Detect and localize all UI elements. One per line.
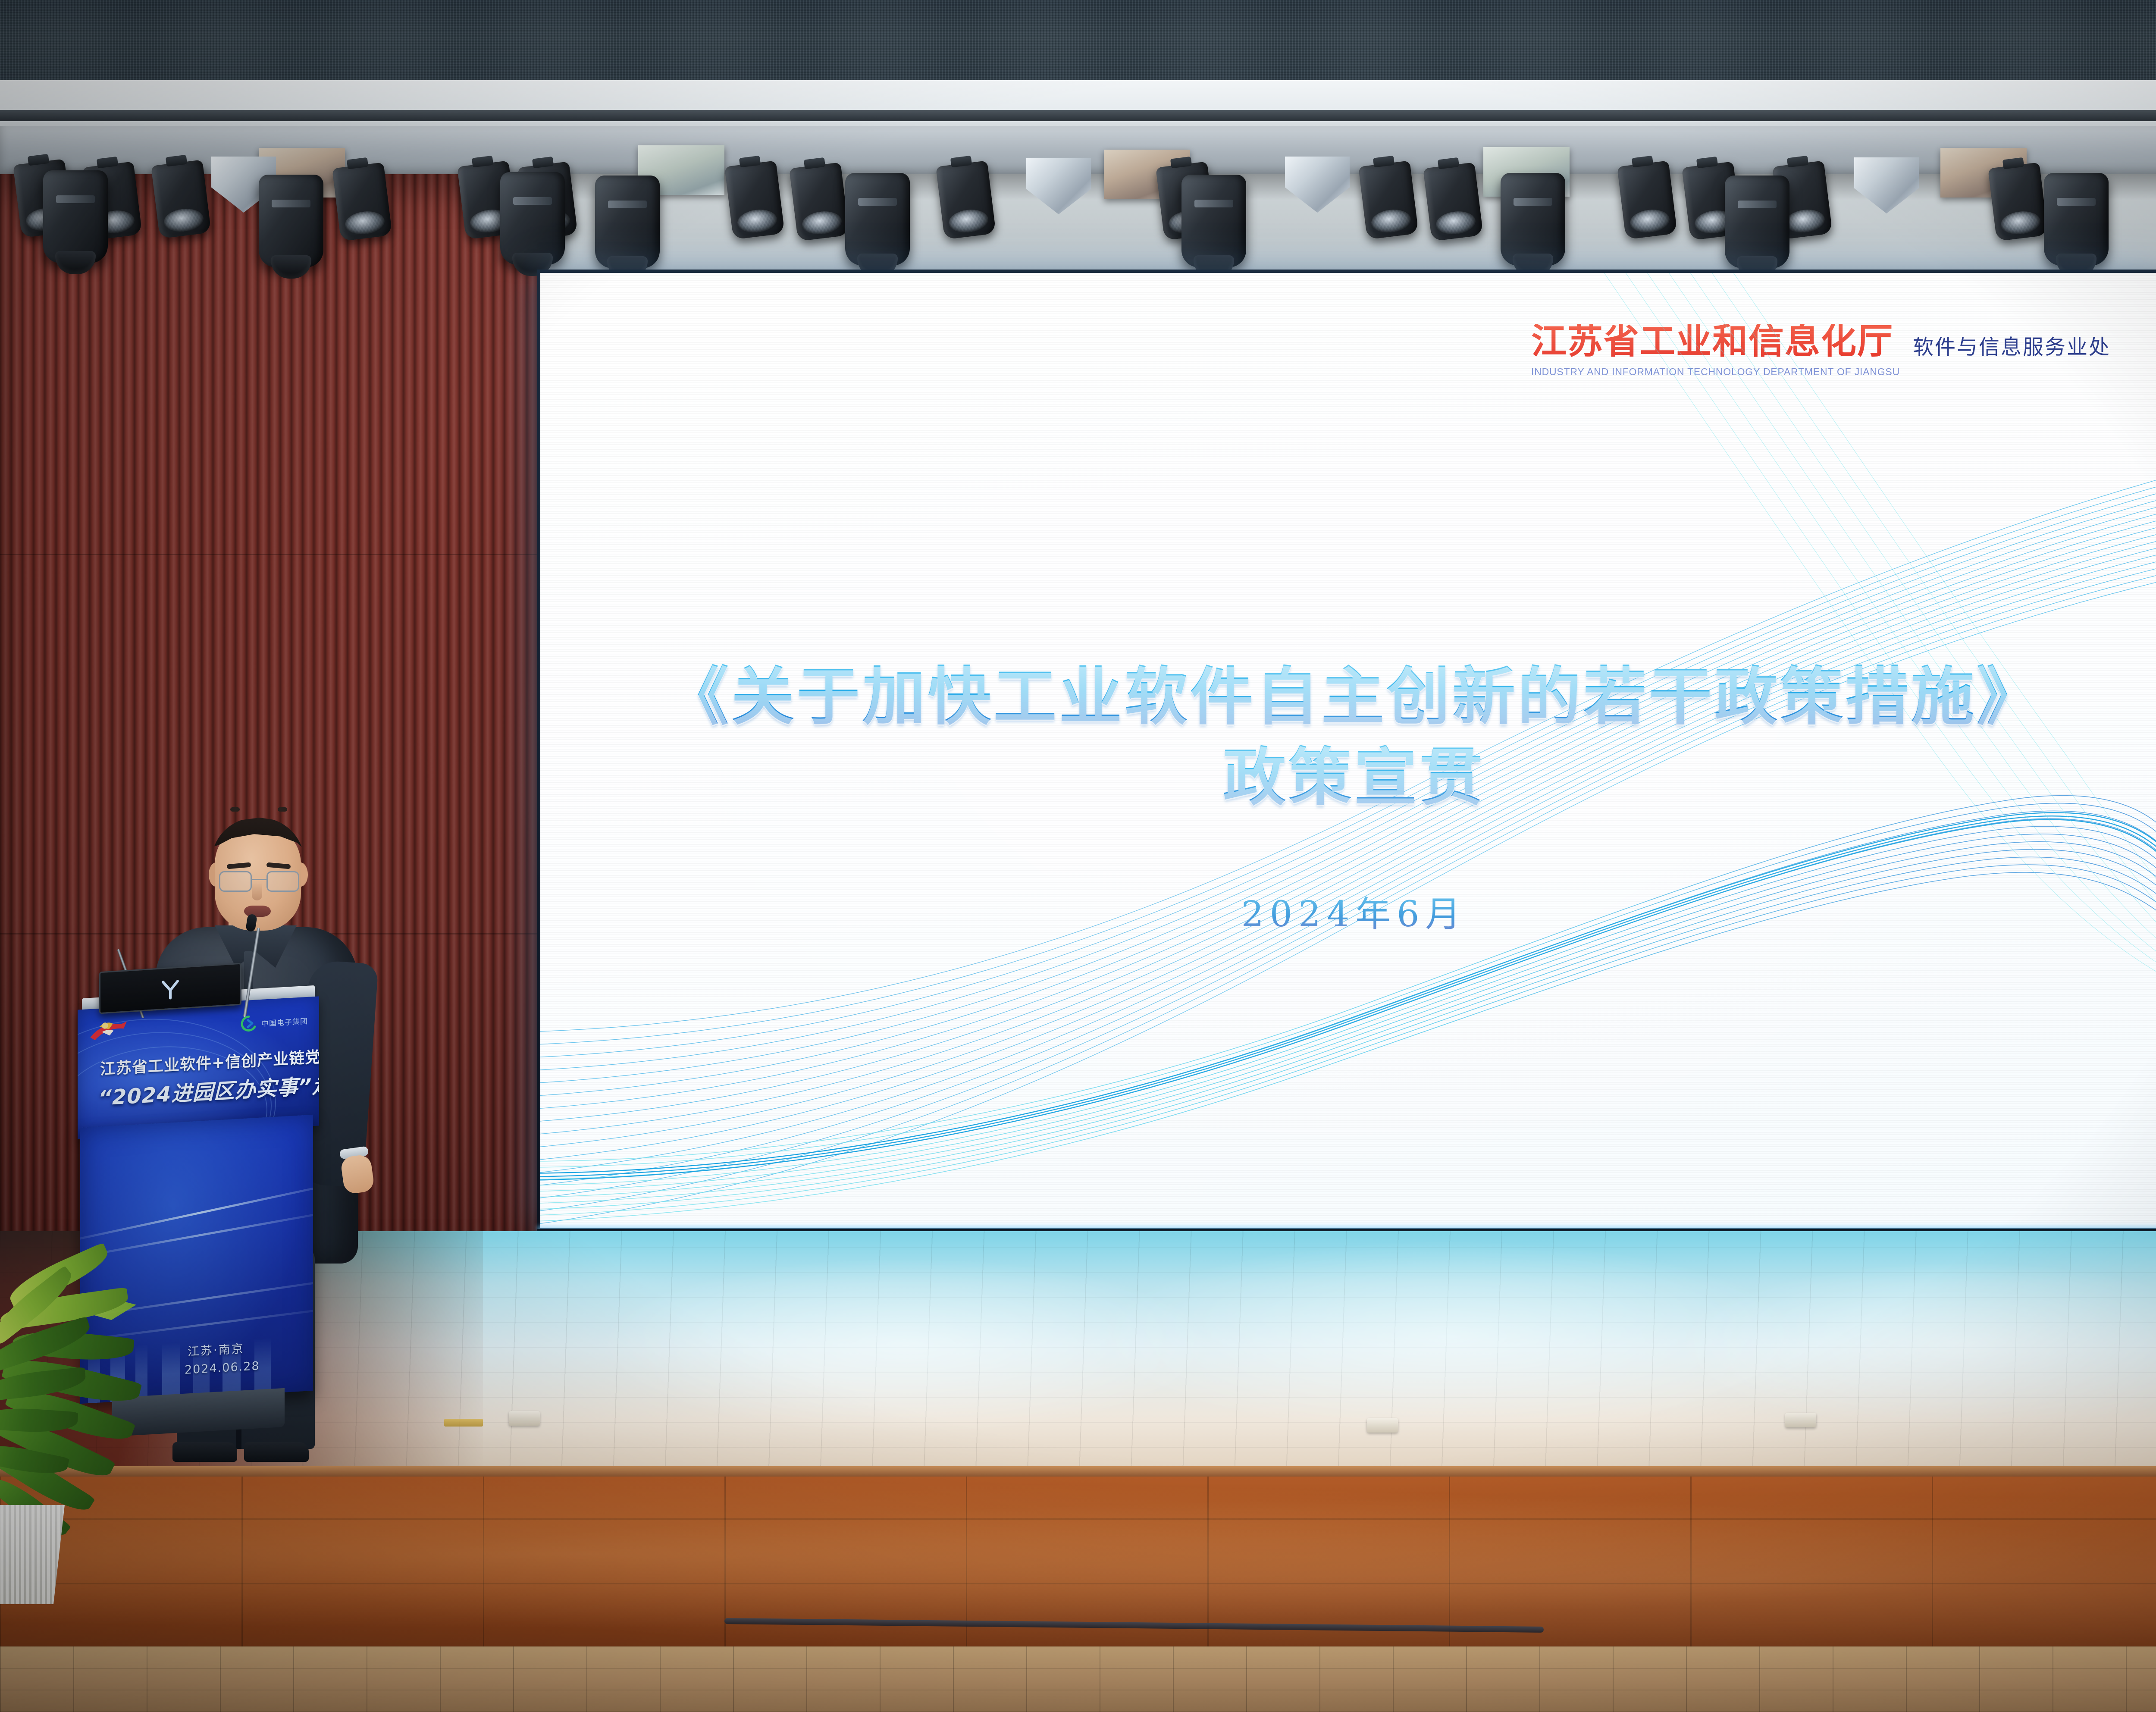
- moving-head-light-icon: [2044, 173, 2109, 266]
- floor-marker: [1367, 1418, 1398, 1433]
- moving-head-light-icon: [43, 170, 108, 263]
- organization-block: 江苏省工业和信息化厅 INDUSTRY AND INFORMATION TECH…: [1531, 324, 1900, 378]
- par-can-light-icon: [1617, 160, 1677, 239]
- slide-title-block: 《关于加快工业软件自主创新的若干政策措施》 政策宣贯: [540, 657, 2156, 818]
- floor-tape-marker: [444, 1419, 483, 1427]
- hall-floor: [0, 1646, 2156, 1712]
- moving-head-light-icon: [259, 175, 323, 267]
- moving-head-light-icon: [1181, 175, 1246, 267]
- podium-place-text: 江苏·南京: [188, 1339, 244, 1359]
- ceiling-dark-panel: [0, 0, 2156, 82]
- moving-head-light-icon: [845, 173, 910, 266]
- slide-header: 江苏省工业和信息化厅 INDUSTRY AND INFORMATION TECH…: [1531, 324, 2111, 378]
- speaker-nose: [252, 882, 262, 900]
- par-can-light-icon: [789, 162, 849, 241]
- truss-bar: [0, 110, 2156, 121]
- barndoor-icon: [1854, 157, 1919, 213]
- y-logo-icon: [158, 975, 182, 1001]
- led-display-screen: 江苏省工业和信息化厅 INDUSTRY AND INFORMATION TECH…: [537, 270, 2156, 1231]
- moving-head-light-icon: [1501, 173, 1565, 266]
- laptop-screen[interactable]: [99, 963, 241, 1014]
- slide-title-line2: 政策宣贯: [540, 737, 2156, 818]
- lighting-truss: [0, 110, 2156, 291]
- potted-plant-icon: [0, 1276, 138, 1604]
- speaker-mouth: [244, 906, 271, 917]
- moving-head-light-icon: [500, 172, 565, 265]
- speaker-shoe: [244, 1442, 309, 1462]
- par-can-light-icon: [1423, 162, 1483, 241]
- par-can-light-icon: [724, 160, 785, 239]
- presentation-slide: 江苏省工业和信息化厅 INDUSTRY AND INFORMATION TECH…: [540, 273, 2156, 1228]
- stage-scene: 江苏省工业和信息化厅 INDUSTRY AND INFORMATION TECH…: [0, 0, 2156, 1712]
- org-department: 软件与信息服务业处: [1913, 324, 2111, 360]
- slide-date: 2024年6月: [540, 885, 2156, 937]
- moving-head-light-icon: [595, 176, 660, 268]
- par-can-light-icon: [936, 160, 996, 239]
- par-can-light-icon: [1988, 162, 2048, 241]
- par-can-light-icon: [151, 160, 211, 238]
- slide-title-line1: 《关于加快工业软件自主创新的若干政策措施》: [540, 657, 2156, 737]
- floor-marker: [509, 1411, 540, 1426]
- speaker-eye: [230, 807, 240, 812]
- barndoor-icon: [1285, 157, 1350, 213]
- org-name-cn: 江苏省工业和信息化厅: [1531, 324, 1900, 359]
- corporate-logo-icon: 中国电子集团: [239, 1012, 308, 1033]
- moving-head-light-icon: [1725, 176, 1789, 268]
- stage-edge-lip: [0, 1466, 2156, 1477]
- alliance-logo-icon: [88, 1018, 135, 1044]
- barndoor-icon: [1026, 158, 1091, 214]
- floor-marker: [1785, 1413, 1816, 1427]
- par-can-light-icon: [1358, 160, 1419, 239]
- par-can-light-icon: [332, 162, 392, 241]
- speaker-eye: [278, 807, 287, 812]
- org-name-en: INDUSTRY AND INFORMATION TECHNOLOGY DEPA…: [1531, 366, 1900, 378]
- plant-pot: [0, 1505, 69, 1604]
- speaker-shoe: [172, 1442, 237, 1462]
